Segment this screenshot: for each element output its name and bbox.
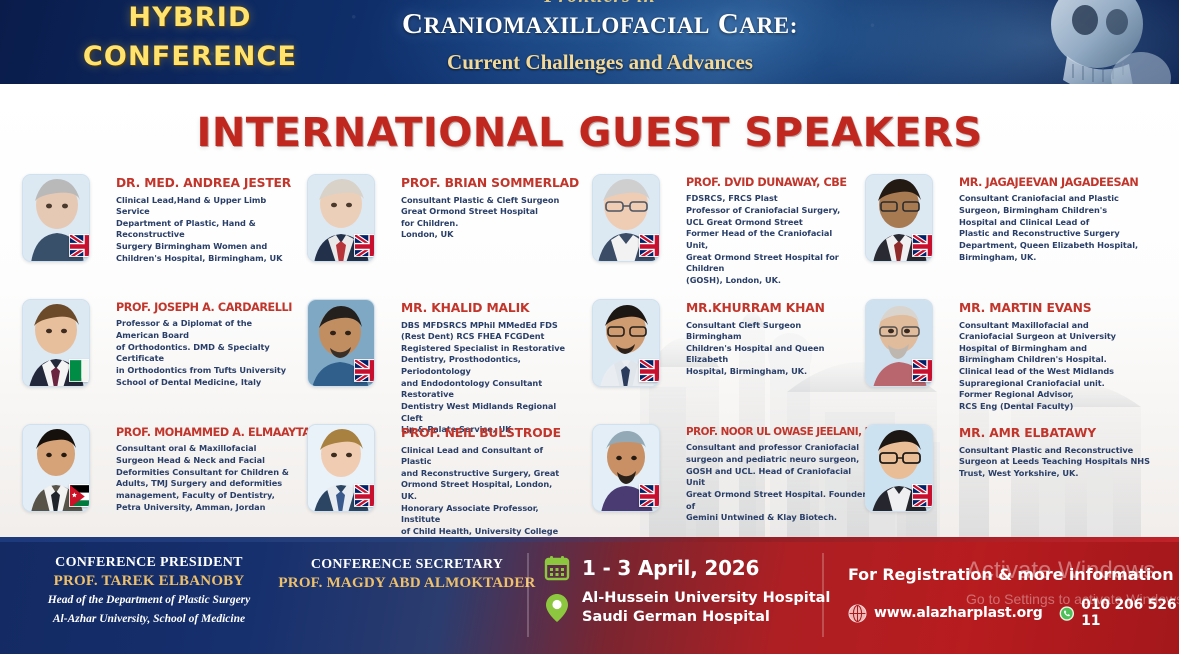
speaker-bio: Consultant Craniofacial and Plastic Surg…	[959, 193, 1138, 263]
venue-line1: Al-Hussein University Hospital	[582, 590, 830, 606]
hybrid-conference-badge: HYBRID CONFERENCE	[40, 0, 340, 70]
president-affiliation-line2: Al-Azhar University, School of Medicine	[24, 612, 274, 628]
speaker-photo	[865, 299, 933, 387]
speaker-info: MR. KHALID MALIK DBS MFDSRCS MPhil MMedE…	[375, 299, 570, 436]
speaker-bio: Clinical Lead,Hand & Upper Limb Service …	[116, 195, 291, 265]
footer-divider-1	[527, 553, 529, 637]
secretary-name: PROF. MAGDY ABD ALMOKTADER	[272, 575, 542, 592]
speaker-bio: Clinical Lead and Consultant of Plastic …	[401, 445, 570, 537]
contacts-row: www.alazharplast.org 010 206 526 11	[848, 597, 1179, 629]
speaker-photo	[22, 299, 90, 387]
uk-flag-icon	[354, 234, 375, 257]
speaker-info: PROF. JOSEPH A. CARDARELLI Professor & a…	[90, 299, 292, 388]
speaker-info: PROF. DVID DUNAWAY, CBE FDSRCS, FRCS Pla…	[660, 174, 855, 286]
speaker-bio: Consultant Plastic & Cleft Surgeon Great…	[401, 195, 579, 242]
speaker-name: MR.KHURRAM KHAN	[686, 302, 855, 316]
speaker-info: DR. MED. ANDREA JESTER Clinical Lead,Han…	[90, 174, 291, 264]
website-url: www.alazharplast.org	[874, 605, 1043, 621]
speaker-bio: Consultant Maxillofacial and Craniofacia…	[959, 320, 1116, 413]
calendar-icon	[544, 555, 570, 581]
title-c2: C	[718, 8, 740, 40]
speaker-info: PROF. MOHAMMED A. ELMAAYTAH Consultant o…	[90, 424, 302, 513]
speaker-photo	[592, 174, 660, 262]
banner-title-block: Frontiers in CRANIOMAXILLOFACIAL CARE: C…	[300, 0, 900, 75]
speaker-card[interactable]: MR. AMR ELBATAWY Consultant Plastic and …	[855, 422, 1159, 532]
speaker-card[interactable]: DR. MED. ANDREA JESTER Clinical Lead,Han…	[0, 172, 285, 297]
speaker-card[interactable]: PROF. JOSEPH A. CARDARELLI Professor & a…	[0, 297, 285, 422]
president-name: PROF. TAREK ELBANOBY	[24, 573, 274, 590]
page-title: INTERNATIONAL GUEST SPEAKERS	[0, 110, 1179, 156]
speaker-card[interactable]: MR. JAGAJEEVAN JAGADEESAN Consultant Cra…	[855, 172, 1159, 297]
speaker-card[interactable]: MR. MARTIN EVANS Consultant Maxillofacia…	[855, 297, 1159, 422]
president-label: CONFERENCE PRESIDENT	[24, 555, 274, 571]
event-venue-row: Al-Hussein University HospitalSaudi Germ…	[544, 589, 830, 627]
speaker-card[interactable]: PROF. MOHAMMED A. ELMAAYTAH Consultant o…	[0, 422, 285, 532]
secretary-label: CONFERENCE SECRETARY	[272, 557, 542, 573]
speaker-name: PROF. JOSEPH A. CARDARELLI	[116, 302, 292, 314]
speaker-info: PROF. NOOR UL OWASE JEELANI, MBE Consult…	[660, 424, 872, 524]
speaker-photo	[592, 299, 660, 387]
uk-flag-icon	[639, 359, 660, 382]
speaker-bio: Consultant Plastic and Reconstructive Su…	[959, 445, 1150, 480]
whatsapp-icon	[1059, 604, 1075, 623]
registration-title: For Registration & more information	[848, 565, 1179, 584]
speakers-section: INTERNATIONAL GUEST SPEAKERS DR. MED. AN…	[0, 84, 1179, 537]
speaker-card[interactable]: PROF. DVID DUNAWAY, CBE FDSRCS, FRCS Pla…	[570, 172, 855, 297]
venue-line2: Saudi German Hospital	[582, 609, 770, 625]
speaker-name: PROF. MOHAMMED A. ELMAAYTAH	[116, 427, 302, 439]
conference-secretary-block: CONFERENCE SECRETARY PROF. MAGDY ABD ALM…	[272, 557, 542, 592]
poster-footer: CONFERENCE PRESIDENT PROF. TAREK ELBANOB…	[0, 537, 1179, 654]
speaker-name: MR. KHALID MALIK	[401, 302, 570, 316]
speaker-bio: Consultant Cleft Surgeon Birmingham Chil…	[686, 320, 855, 378]
conference-subtitle: Current Challenges and Advances	[300, 50, 900, 75]
globe-icon	[848, 604, 867, 623]
speaker-name: PROF. BRIAN SOMMERLAD	[401, 177, 579, 191]
conference-poster: HYBRID CONFERENCE Frontiers in CRANIOMAX…	[0, 0, 1179, 654]
location-pin-icon	[544, 593, 570, 623]
speaker-photo	[307, 174, 375, 262]
speaker-name: PROF. NEIL BULSTRODE	[401, 427, 570, 441]
title-main: RANIOMAXILLOFACIAL	[424, 13, 710, 38]
speaker-card[interactable]: PROF. BRIAN SOMMERLAD Consultant Plastic…	[285, 172, 570, 297]
speaker-name: MR. JAGAJEEVAN JAGADEESAN	[959, 177, 1138, 189]
title-c1: C	[402, 8, 424, 40]
conference-title: CRANIOMAXILLOFACIAL CARE:	[300, 8, 900, 41]
uk-flag-icon	[639, 234, 660, 257]
speakers-grid: DR. MED. ANDREA JESTER Clinical Lead,Han…	[0, 172, 1179, 532]
footer-divider-2	[822, 553, 824, 637]
speaker-bio: Consultant oral & Maxillofacial Surgeon …	[116, 443, 302, 513]
jordan-flag-icon	[69, 484, 90, 507]
event-date-row: 1 - 3 April, 2026	[544, 555, 830, 581]
website-contact[interactable]: www.alazharplast.org	[848, 604, 1043, 623]
event-venue: Al-Hussein University HospitalSaudi Germ…	[582, 589, 830, 627]
speaker-card[interactable]: MR.KHURRAM KHAN Consultant Cleft Surgeon…	[570, 297, 855, 422]
speaker-photo	[22, 174, 90, 262]
italy-flag-icon	[69, 359, 90, 382]
speaker-name: PROF. NOOR UL OWASE JEELANI, MBE	[686, 427, 872, 438]
poster-banner: HYBRID CONFERENCE Frontiers in CRANIOMAX…	[0, 0, 1179, 84]
uk-flag-icon	[69, 234, 90, 257]
title-care: ARE:	[739, 13, 798, 38]
event-details-block: 1 - 3 April, 2026 Al-Hussein University …	[544, 555, 830, 627]
speaker-card[interactable]: PROF. NEIL BULSTRODE Clinical Lead and C…	[285, 422, 570, 532]
uk-flag-icon	[354, 359, 375, 382]
speaker-name: MR. AMR ELBATAWY	[959, 427, 1150, 441]
speaker-info: PROF. BRIAN SOMMERLAD Consultant Plastic…	[375, 174, 579, 241]
president-affiliation-line1: Head of the Department of Plastic Surger…	[24, 593, 274, 609]
speaker-photo	[307, 299, 375, 387]
registration-block: For Registration & more information www.…	[848, 565, 1179, 629]
uk-flag-icon	[639, 484, 660, 507]
speaker-photo	[592, 424, 660, 512]
phone-contact[interactable]: 010 206 526 11	[1059, 597, 1179, 629]
uk-flag-icon	[912, 359, 933, 382]
speaker-bio: DBS MFDSRCS MPhil MMedEd FDS (Rest Dent)…	[401, 320, 570, 436]
speaker-card[interactable]: PROF. NOOR UL OWASE JEELANI, MBE Consult…	[570, 422, 855, 532]
speaker-info: PROF. NEIL BULSTRODE Clinical Lead and C…	[375, 424, 570, 537]
speaker-photo	[865, 424, 933, 512]
speaker-bio: FDSRCS, FRCS Plast Professor of Craniofa…	[686, 193, 855, 286]
phone-number: 010 206 526 11	[1081, 597, 1179, 629]
speaker-photo	[22, 424, 90, 512]
speaker-name: PROF. DVID DUNAWAY, CBE	[686, 177, 855, 189]
speaker-card[interactable]: MR. KHALID MALIK DBS MFDSRCS MPhil MMedE…	[285, 297, 570, 422]
speaker-name: MR. MARTIN EVANS	[959, 302, 1116, 316]
speaker-info: MR.KHURRAM KHAN Consultant Cleft Surgeon…	[660, 299, 855, 378]
speaker-photo	[307, 424, 375, 512]
speaker-info: MR. MARTIN EVANS Consultant Maxillofacia…	[933, 299, 1116, 413]
uk-flag-icon	[354, 484, 375, 507]
hybrid-label: HYBRID	[40, 0, 340, 31]
event-date: 1 - 3 April, 2026	[582, 556, 759, 580]
conference-president-block: CONFERENCE PRESIDENT PROF. TAREK ELBANOB…	[24, 555, 274, 627]
skull-illustration	[989, 0, 1179, 84]
frontiers-eyebrow: Frontiers in	[300, 0, 900, 2]
uk-flag-icon	[912, 484, 933, 507]
speaker-info: MR. JAGAJEEVAN JAGADEESAN Consultant Cra…	[933, 174, 1138, 263]
speaker-info: MR. AMR ELBATAWY Consultant Plastic and …	[933, 424, 1150, 479]
speaker-name: DR. MED. ANDREA JESTER	[116, 177, 291, 191]
speaker-bio: Consultant and professor Craniofacial su…	[686, 442, 872, 523]
conference-label: CONFERENCE	[40, 31, 340, 70]
speaker-bio: Professor & a Diplomat of the American B…	[116, 318, 292, 388]
speaker-photo	[865, 174, 933, 262]
uk-flag-icon	[912, 234, 933, 257]
